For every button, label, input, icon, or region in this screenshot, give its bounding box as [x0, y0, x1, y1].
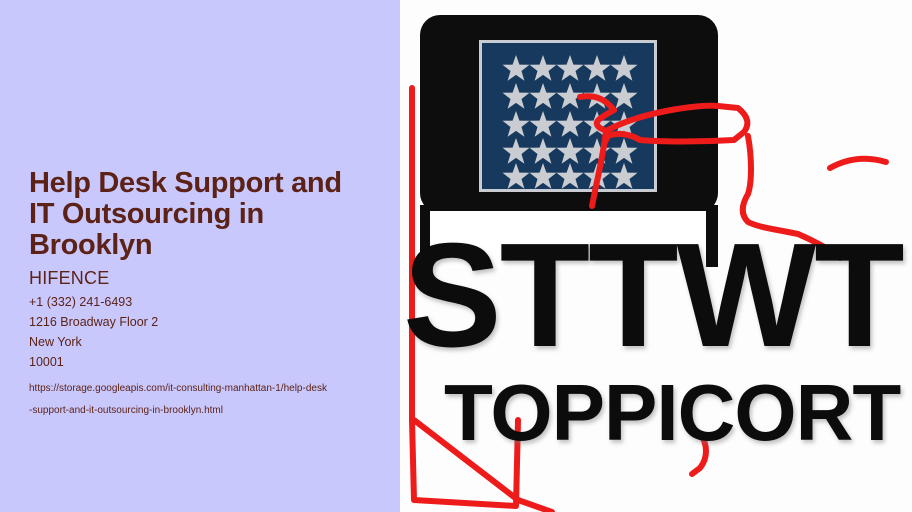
business-url-line-1: https://storage.googleapis.com/it-consul…	[29, 378, 377, 400]
artwork-illustration	[400, 0, 912, 512]
business-info-panel: Help Desk Support and IT Outsourcing in …	[0, 0, 400, 512]
business-url-line-2: -support-and-it-outsourcing-in-brooklyn.…	[29, 400, 377, 422]
business-info-block: Help Desk Support and IT Outsourcing in …	[29, 168, 377, 422]
page-title: Help Desk Support and IT Outsourcing in …	[29, 168, 377, 261]
laptop-screen-star-grid-icon	[479, 40, 657, 192]
business-address-street: 1216 Broadway Floor 2	[29, 312, 377, 332]
business-address-zip: 10001	[29, 352, 377, 372]
business-name: HIFENCE	[29, 267, 377, 290]
business-url[interactable]: https://storage.googleapis.com/it-consul…	[29, 378, 377, 422]
business-address-city: New York	[29, 332, 377, 352]
artwork-panel: STTWT TOPPICORT	[400, 0, 912, 512]
page-root: Help Desk Support and IT Outsourcing in …	[0, 0, 912, 512]
business-phone[interactable]: +1 (332) 241-6493	[29, 292, 377, 312]
